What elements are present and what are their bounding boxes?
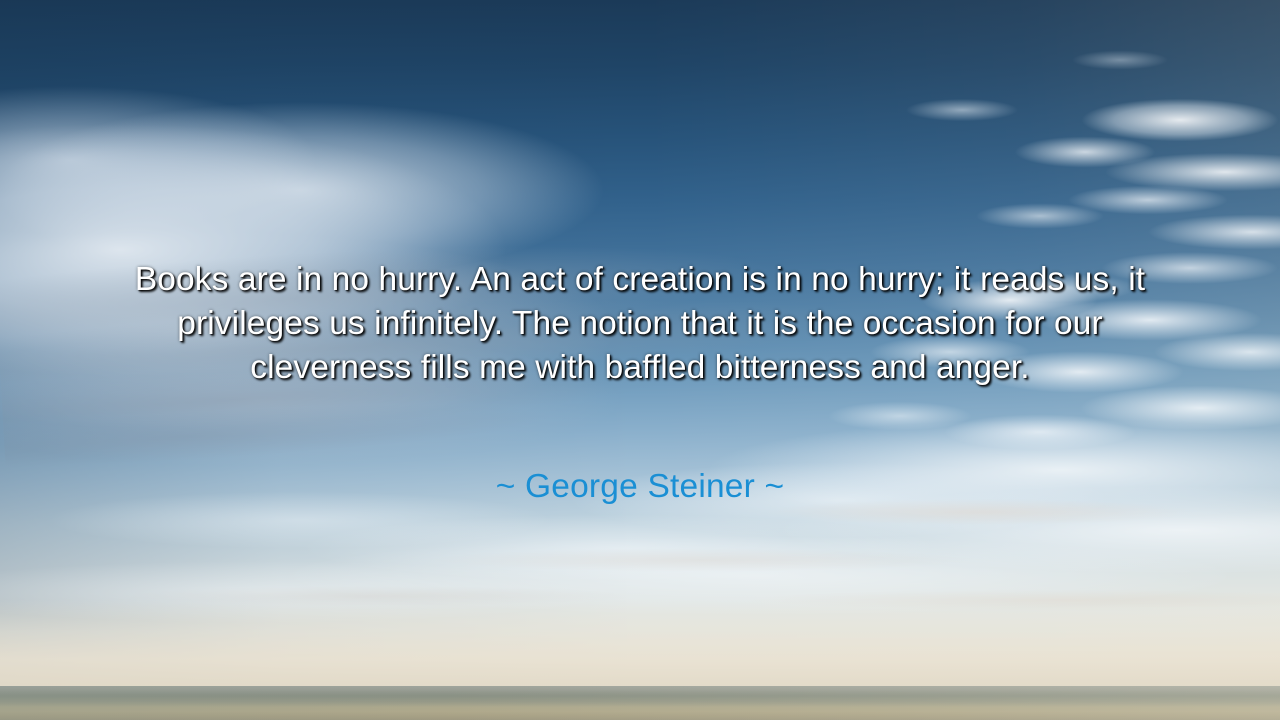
quote-image: Books are in no hurry. An act of creatio… (0, 0, 1280, 720)
land-haze-overlay (0, 686, 1280, 720)
quote-text: Books are in no hurry. An act of creatio… (130, 258, 1150, 390)
quote-block: Books are in no hurry. An act of creatio… (0, 258, 1280, 390)
quote-attribution: ~ George Steiner ~ (0, 466, 1280, 508)
horizon-haze (0, 600, 1280, 690)
